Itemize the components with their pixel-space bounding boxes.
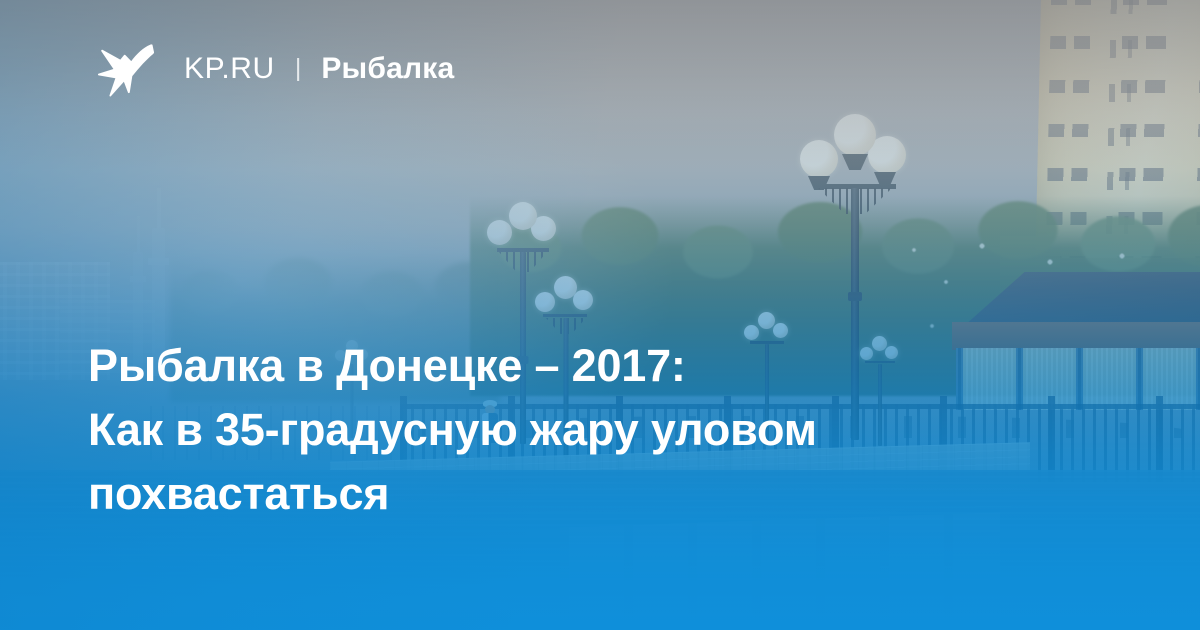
lamp-globe-left xyxy=(800,140,838,178)
pier-legs xyxy=(560,512,1000,630)
pavilion-roof xyxy=(946,272,1200,328)
headline-line-2: Как в 35-градусную жару уловом xyxy=(88,398,1098,462)
lamp-crossarm xyxy=(543,314,587,317)
brand-name[interactable]: KP.RU xyxy=(184,54,275,84)
lamp-pole-knob xyxy=(848,292,862,301)
lamp-globe-left xyxy=(535,292,555,312)
headline-line-1: Рыбалка в Донецке – 2017: xyxy=(88,334,1098,398)
headline-line-3: похвастаться xyxy=(88,462,1098,526)
section-name[interactable]: Рыбалка xyxy=(321,54,454,84)
lamp-globe-center xyxy=(758,312,775,329)
pier-structure xyxy=(560,512,1000,630)
lamp-cup-center xyxy=(842,154,868,170)
lamp-globe-left xyxy=(487,220,512,245)
brand-separator: | xyxy=(295,56,302,81)
page-title: Рыбалка в Донецке – 2017: Как в 35-граду… xyxy=(88,334,1098,526)
swallow-bird-logo-icon[interactable] xyxy=(92,38,154,100)
lamp-globe-center xyxy=(509,202,537,230)
brand-header: KP.RU | Рыбалка xyxy=(92,38,454,100)
lamp-globe-center xyxy=(554,276,577,299)
lamp-globe-center xyxy=(834,114,876,156)
lamp-globe-right xyxy=(573,290,593,310)
social-share-card: KP.RU | Рыбалка Рыбалка в Донецке – 2017… xyxy=(0,0,1200,630)
